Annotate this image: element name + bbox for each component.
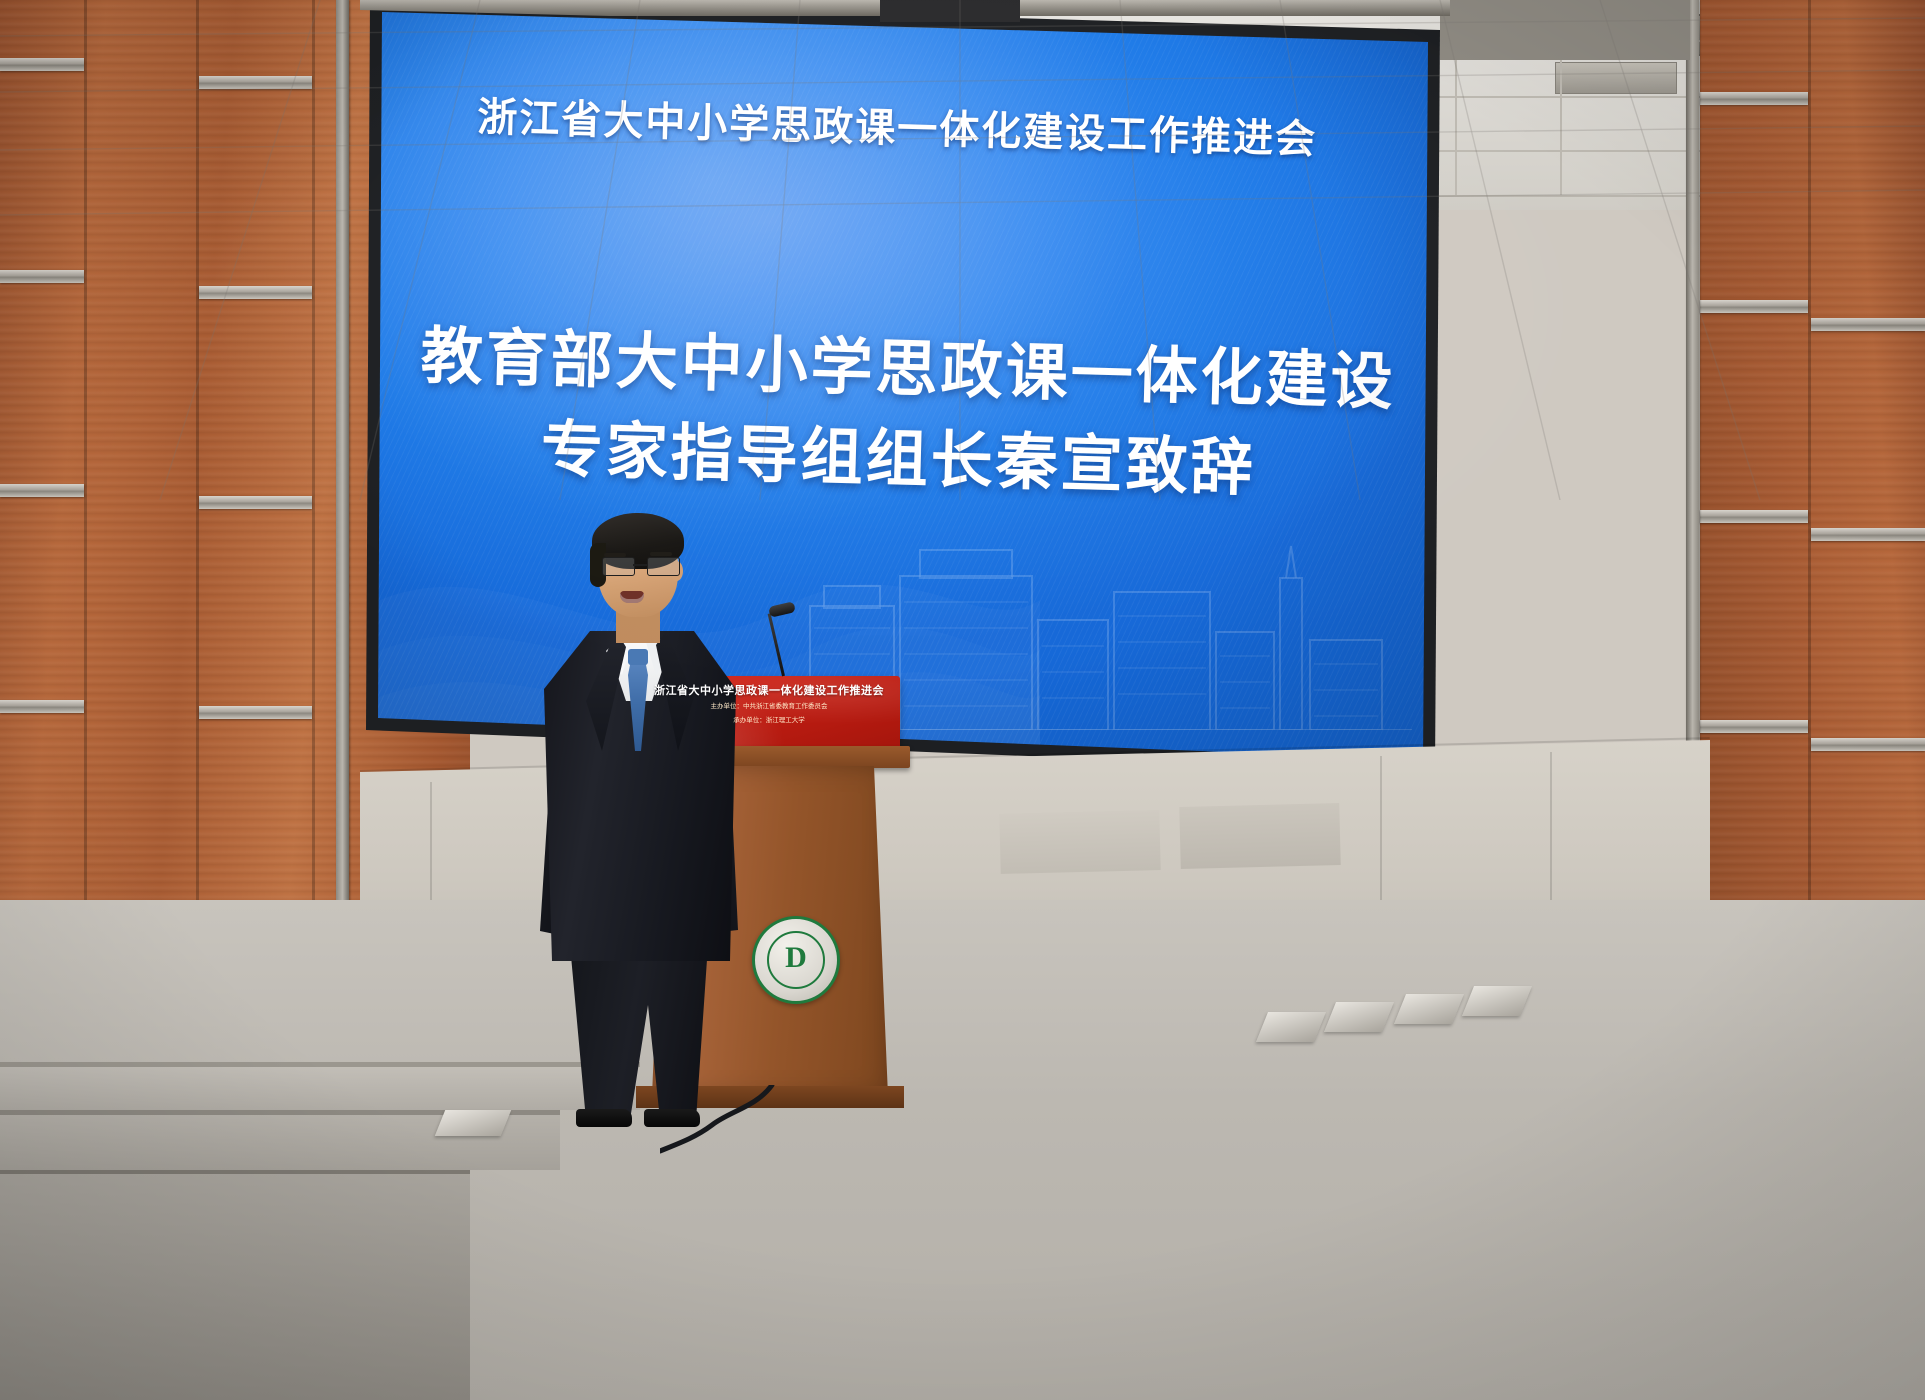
- stage-platform-edge: [0, 1170, 470, 1174]
- podium-banner-subtitle-2: 承办单位：浙江理工大学: [638, 716, 900, 726]
- speaker-person: [540, 505, 740, 1115]
- floor-light-icon: [1324, 1002, 1394, 1032]
- emblem-letter: D: [785, 941, 807, 975]
- wall-metal-trim: [0, 700, 84, 713]
- speaker-mouth: [620, 591, 644, 603]
- speaker-shoe: [576, 1109, 632, 1127]
- speaker-eyebrow: [650, 552, 672, 556]
- floor-cable: [660, 1085, 780, 1155]
- podium-banner-text: 浙江省大中小学思政课一体化建设工作推进会 主办单位：中共浙江省委教育工作委员会 …: [638, 682, 900, 726]
- floor-light-icon: [435, 1110, 512, 1136]
- speaker-tie-knot: [628, 649, 648, 665]
- eyeglasses-icon: [602, 557, 678, 574]
- glasses-bridge: [633, 564, 647, 566]
- lower-wall-panel: [1179, 803, 1340, 869]
- university-emblem-icon: D: [752, 916, 840, 1004]
- floor-light-icon: [1394, 994, 1464, 1024]
- podium-banner-title: 浙江省大中小学思政课一体化建设工作推进会: [638, 682, 900, 698]
- photo-scene: 浙江省大中小学思政课一体化建设工作推进会 教育部大中小学思政课一体化建设 专家指…: [0, 0, 1925, 1400]
- glasses-lens-left: [602, 557, 635, 576]
- floor-tile-pattern: [0, 0, 1925, 500]
- stage-lower-platform: [0, 1170, 470, 1400]
- floor-light-icon: [1462, 986, 1532, 1016]
- wall-metal-trim: [1811, 738, 1925, 751]
- lower-wall-panel: [999, 810, 1160, 874]
- floor-light-icon: [1256, 1012, 1326, 1042]
- lower-wall-seam: [1550, 752, 1552, 902]
- wall-metal-trim: [199, 706, 312, 719]
- lower-wall-seam: [1380, 756, 1382, 906]
- glasses-lens-right: [647, 557, 680, 576]
- podium-banner-subtitle-1: 主办单位：中共浙江省委教育工作委员会: [638, 702, 900, 712]
- wall-metal-trim: [1700, 720, 1808, 733]
- wall-metal-trim: [1811, 528, 1925, 541]
- wall-metal-trim: [1700, 510, 1808, 523]
